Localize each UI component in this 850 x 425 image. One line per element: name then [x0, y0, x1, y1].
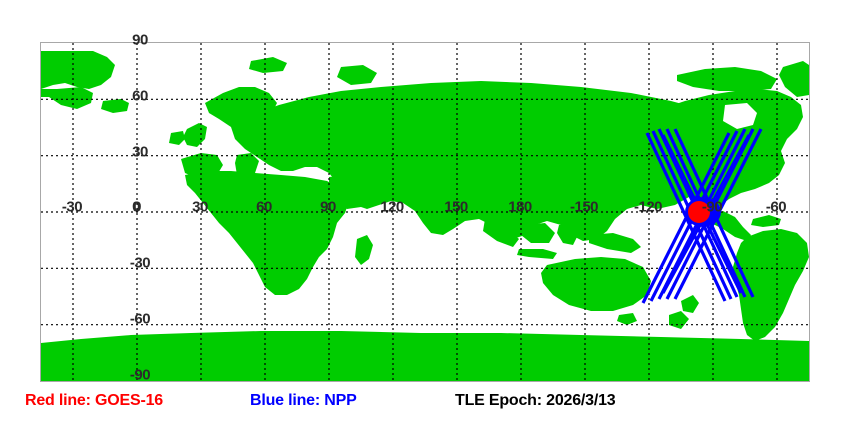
legend-tle-epoch: TLE Epoch: 2026/3/13	[455, 392, 616, 410]
goes16-marker	[688, 201, 710, 223]
legend: Red line: GOES-16 Blue line: NPP TLE Epo…	[0, 392, 850, 425]
legend-red-line-goes16: Red line: GOES-16	[25, 392, 163, 410]
satellite-ground-track-map: -30 0 30 60 90 120 150 180 -150 -120 -90…	[0, 0, 850, 425]
map-frame	[40, 42, 810, 382]
land-antarctica	[41, 331, 809, 381]
world-map-svg	[41, 43, 809, 381]
legend-blue-line-npp: Blue line: NPP	[250, 392, 357, 410]
